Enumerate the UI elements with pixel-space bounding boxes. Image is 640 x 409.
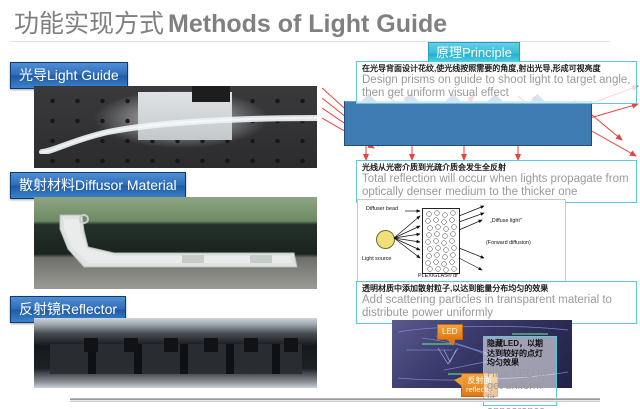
section-label-diffusor-en: Diffusor Material <box>75 177 177 193</box>
callout-reflector-tail <box>454 376 463 387</box>
callout-hide-led: 隐藏LED，以期 达到较好的点灯 均匀效果 Hide LED to get un… <box>483 336 557 406</box>
reflector-clips <box>58 338 298 352</box>
callout-principle: 在光导背面设计花纹,使光线按照需要的角度,射出光导,形成可视亮度 Design … <box>356 61 637 104</box>
page-title-en: Methods of Light Guide <box>168 10 447 38</box>
callout-total-reflection: 光线从光密介质到光疏介质会发生全反射 Total reflection will… <box>356 160 637 203</box>
diffusor-part-shape <box>54 209 302 275</box>
section-label-principle-cn: 原理 <box>436 45 462 60</box>
section-label-principle-en: Principle <box>462 45 512 60</box>
slide-canvas: 功能实现方式Methods of Light Guide 光导Light Gui… <box>0 0 640 409</box>
diffuser-bead-schematic: Diffuser bead Light source „Diffuse ligh… <box>357 199 566 283</box>
diffusion-ray-arrows <box>358 200 565 282</box>
callout-hide-led-cn-2: 达到较好的点灯 <box>487 349 553 359</box>
callout-scattering-en: Add scattering particles in transparent … <box>362 294 632 320</box>
callout-hide-led-en: Hide LED to get uniform lit appearance <box>487 368 553 409</box>
section-label-light-guide: 光导Light Guide <box>10 62 128 89</box>
page-title-cn: 功能实现方式 <box>14 10 164 38</box>
photo-fixture-block <box>192 86 230 102</box>
callout-hide-led-cn-1: 隐藏LED，以期 <box>487 339 553 349</box>
section-label-reflector-cn: 反射镜 <box>19 301 61 317</box>
callout-led-label: LED <box>442 327 458 336</box>
page-title: 功能实现方式Methods of Light Guide <box>14 4 447 40</box>
section-label-light-guide-cn: 光导 <box>19 67 47 83</box>
photo-diffusor-material-part <box>34 197 317 289</box>
photo-reflector-assembly <box>34 318 317 388</box>
callout-scattering: 透明材质中添加散射粒子,以达到能量分布均匀的效果 Add scattering … <box>356 281 637 324</box>
light-guide-rod-shape <box>38 106 317 154</box>
section-label-diffusor-cn: 散射材料 <box>19 177 75 193</box>
callout-led-tail <box>446 338 456 346</box>
section-label-reflector-en: Reflector <box>61 301 117 317</box>
callout-principle-en: Design prisms on guide to shoot light to… <box>362 74 632 100</box>
photo-light-guide-rod <box>34 86 317 168</box>
callout-total-reflection-en: Total reflection will occur when lights … <box>362 173 632 199</box>
section-label-light-guide-en: Light Guide <box>47 67 119 83</box>
callout-hide-led-cn-3: 均匀效果 <box>487 358 553 368</box>
callout-total-reflection-cn: 光线从光密介质到光疏介质会发生全反射 <box>362 163 632 173</box>
callout-principle-cn: 在光导背面设计花纹,使光线按照需要的角度,射出光导,形成可视亮度 <box>362 64 632 74</box>
callout-led: LED <box>437 324 463 340</box>
section-label-diffusor: 散射材料Diffusor Material <box>10 172 186 199</box>
title-divider <box>10 41 610 42</box>
callout-scattering-cn: 透明材质中添加散射粒子,以达到能量分布均匀的效果 <box>362 284 632 294</box>
bottom-divider-bar <box>70 398 600 402</box>
